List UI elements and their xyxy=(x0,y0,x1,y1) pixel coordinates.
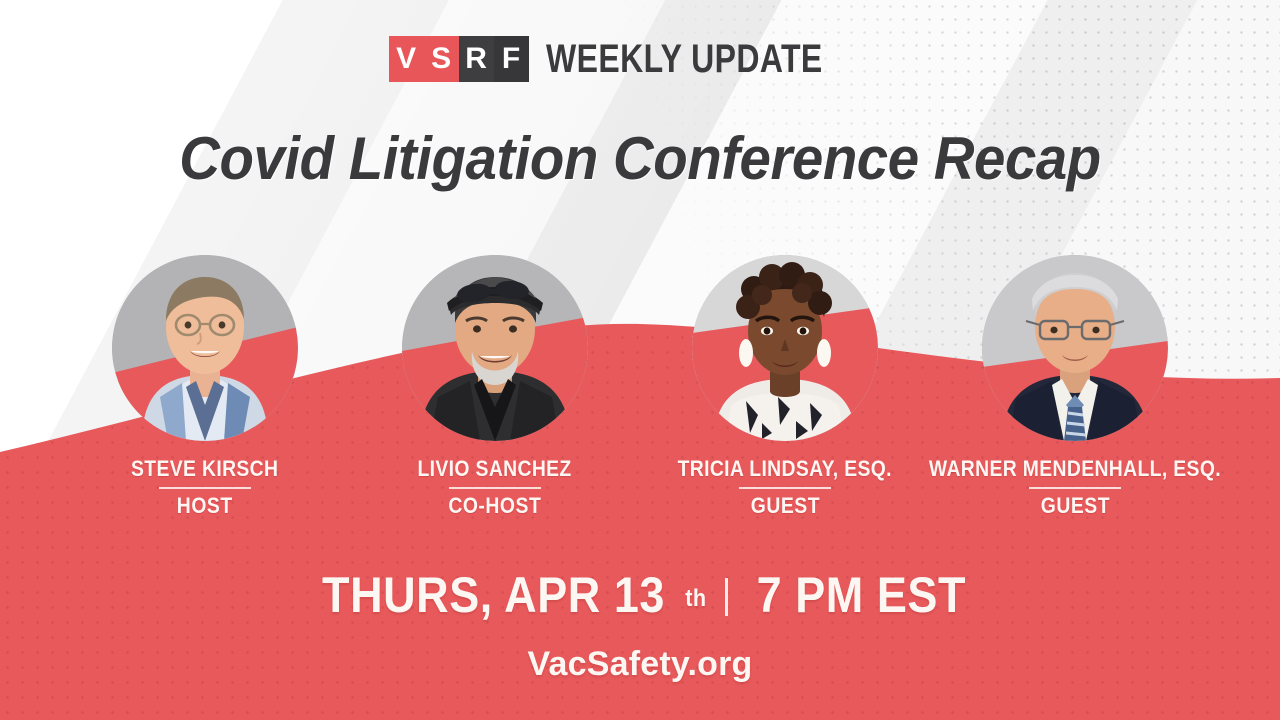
event-day-suffix: th xyxy=(685,585,706,613)
speaker-list: STEVE KIRSCH HOST xyxy=(0,255,1280,545)
speaker-divider xyxy=(159,487,251,489)
portrait-disc xyxy=(692,255,878,441)
vsrf-logo: V S R F xyxy=(389,36,529,82)
speaker-divider xyxy=(1029,487,1121,489)
datetime-separator xyxy=(725,578,728,616)
speaker-name: STEVE KIRSCH xyxy=(131,456,278,482)
speaker-name: WARNER MENDENHALL, ESQ. xyxy=(929,456,1221,482)
speaker-name: LIVIO SANCHEZ xyxy=(418,456,572,482)
event-day: THURS, APR 13 xyxy=(322,566,665,624)
speaker-card: STEVE KIRSCH HOST xyxy=(60,255,350,519)
livio-sanchez-portrait xyxy=(402,255,588,441)
speaker-card: TRICIA LINDSAY, ESQ. GUEST xyxy=(640,255,930,519)
promo-graphic: V S R F WEEKLY UPDATE Covid Litigation C… xyxy=(0,0,1280,720)
portrait-disc xyxy=(402,255,588,441)
page-title: Covid Litigation Conference Recap xyxy=(38,124,1241,193)
portrait-image xyxy=(402,255,588,441)
portrait-disc xyxy=(112,255,298,441)
speaker-role: HOST xyxy=(177,493,233,519)
portrait-image xyxy=(692,255,878,441)
logo-letter-f: F xyxy=(494,36,529,82)
portrait-image xyxy=(982,255,1168,441)
speaker-divider xyxy=(449,487,541,489)
speaker-name: TRICIA LINDSAY, ESQ. xyxy=(678,456,892,482)
steve-kirsch-portrait xyxy=(112,255,298,441)
tricia-lindsay-portrait xyxy=(692,255,878,441)
speaker-role: CO-HOST xyxy=(449,493,542,519)
logo-letter-s: S xyxy=(424,36,459,82)
portrait-image xyxy=(112,255,298,441)
event-time: 7 PM EST xyxy=(756,566,965,624)
logo-letter-r: R xyxy=(459,36,494,82)
website-url[interactable]: VacSafety.org xyxy=(0,645,1280,684)
speaker-role: GUEST xyxy=(1040,493,1109,519)
portrait-disc xyxy=(982,255,1168,441)
speaker-divider xyxy=(739,487,831,489)
logo-letter-v: V xyxy=(389,36,424,82)
speaker-card: LIVIO SANCHEZ CO-HOST xyxy=(350,255,640,519)
speaker-card: WARNER MENDENHALL, ESQ. GUEST xyxy=(930,255,1220,519)
speaker-role: GUEST xyxy=(750,493,819,519)
event-datetime: THURS, APR 13th7 PM EST xyxy=(0,566,1280,624)
warner-mendenhall-portrait xyxy=(982,255,1168,441)
show-name: WEEKLY UPDATE xyxy=(546,37,823,82)
header: V S R F WEEKLY UPDATE xyxy=(0,36,1280,82)
